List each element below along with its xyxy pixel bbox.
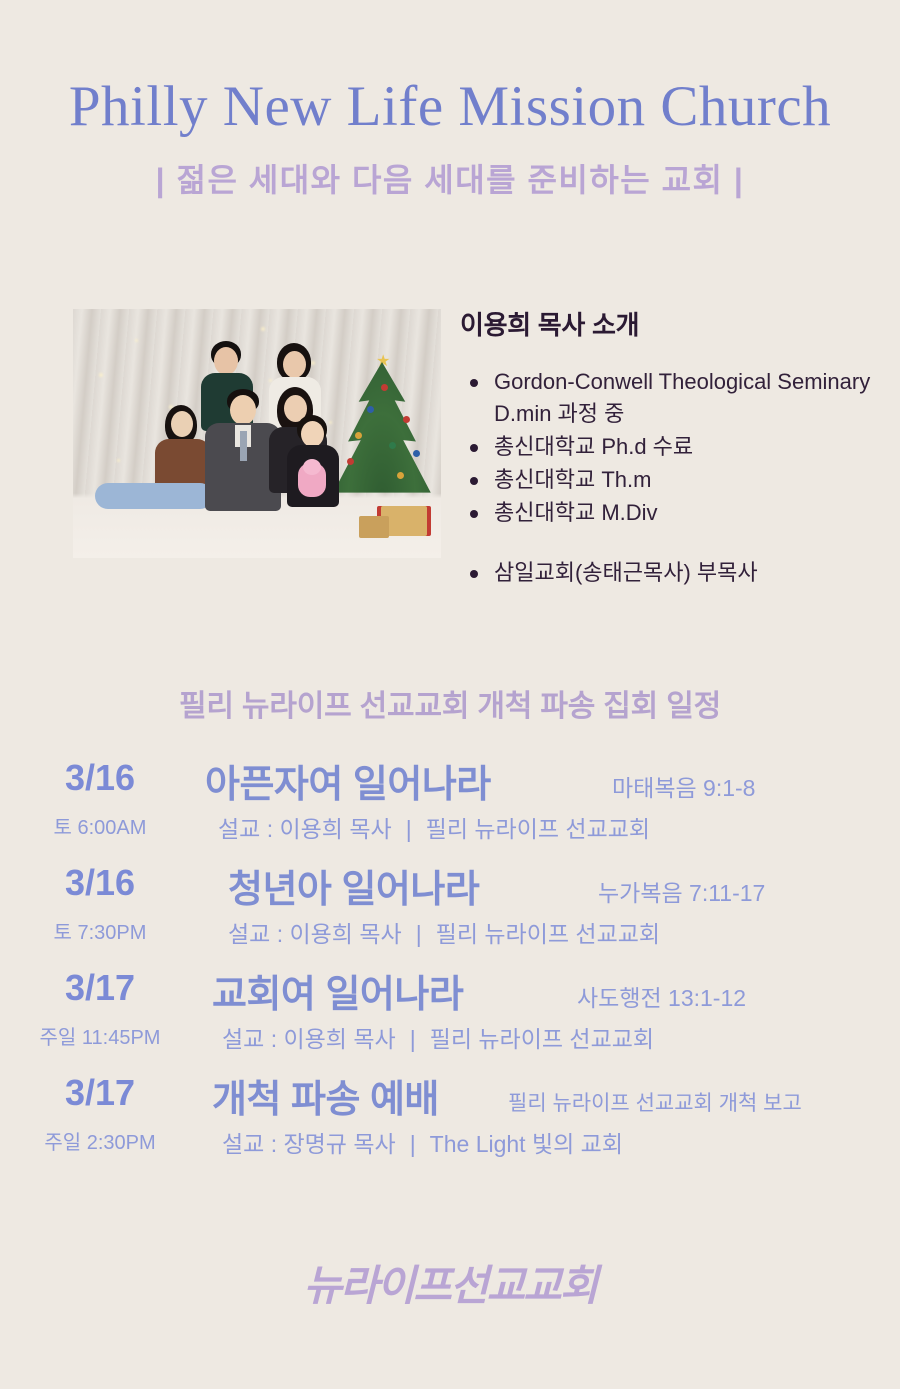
- schedule-bible-verse: 누가복음 7:11-17: [598, 874, 765, 908]
- head: [230, 395, 256, 425]
- tree-ornament: [347, 458, 354, 465]
- schedule-separator: |: [392, 816, 426, 842]
- church-title: Philly New Life Mission Church: [0, 78, 900, 135]
- schedule-date: 3/17: [0, 967, 200, 1009]
- tree-ornament: [389, 442, 396, 449]
- schedule-daytime: 토 7:30PM: [0, 916, 200, 945]
- family-photo: ★: [73, 309, 441, 558]
- person-youngest-child: [285, 415, 341, 523]
- schedule-separator: |: [396, 1131, 430, 1157]
- tree-ornament: [367, 406, 374, 413]
- schedule-list: 3/16 토 6:00AM 아픈자여 일어나라 마태복음 9:1-8 설교 : …: [0, 753, 900, 1173]
- bokeh-light: [99, 373, 103, 377]
- schedule-row: 3/17 주일 2:30PM 개척 파송 예배 필리 뉴라이프 선교교회 개척 …: [0, 1068, 900, 1173]
- bio-item: Gordon-Conwell Theological Seminary D.mi…: [460, 366, 880, 430]
- schedule-bible-verse: 마태복음 9:1-8: [612, 769, 755, 803]
- schedule-bible-verse: 필리 뉴라이프 선교교회 개척 보고: [508, 1087, 802, 1117]
- poster-root: Philly New Life Mission Church | 젊은 세대와 …: [0, 0, 900, 1389]
- schedule-row: 3/16 토 7:30PM 청년아 일어나라 누가복음 7:11-17 설교 :…: [0, 858, 900, 963]
- schedule-date: 3/17: [0, 1072, 200, 1114]
- christmas-tree-icon: ★: [329, 354, 435, 512]
- schedule-separator: |: [402, 921, 436, 947]
- schedule-sermon-title: 개척 파송 예배: [212, 1068, 439, 1123]
- tree-foliage: [329, 362, 435, 504]
- tree-ornament: [355, 432, 362, 439]
- schedule-detail: 설교 : 이용희 목사|필리 뉴라이프 선교교회: [228, 915, 660, 949]
- schedule-sermon-title: 교회여 일어나라: [212, 963, 463, 1018]
- schedule-detail: 설교 : 장명규 목사|The Light 빛의 교회: [222, 1125, 623, 1159]
- bio-item: 총신대학교 M.Div: [460, 497, 880, 529]
- schedule-preacher: 설교 : 장명규 목사: [222, 1131, 396, 1157]
- schedule-row: 3/16 토 6:00AM 아픈자여 일어나라 마태복음 9:1-8 설교 : …: [0, 753, 900, 858]
- schedule-heading: 필리 뉴라이프 선교교회 개척 파송 집회 일정: [0, 681, 900, 725]
- head: [214, 347, 238, 375]
- schedule-daytime: 주일 11:45PM: [0, 1021, 200, 1050]
- schedule-bible-verse: 사도행전 13:1-12: [577, 979, 746, 1013]
- schedule-sermon-title: 청년아 일어나라: [228, 858, 479, 913]
- photo-background: ★: [73, 309, 441, 558]
- pastor-bio: 이용희 목사 소개 Gordon-Conwell Theological Sem…: [460, 305, 880, 590]
- bio-item: 총신대학교 Ph.d 수료: [460, 431, 880, 463]
- bio-title: 이용희 목사 소개: [460, 305, 880, 342]
- head: [283, 351, 306, 378]
- tree-ornament: [413, 450, 420, 457]
- footer-logo: 뉴라이프선교교회: [0, 1252, 900, 1313]
- necktie: [240, 431, 247, 461]
- tree-ornament: [381, 384, 388, 391]
- head: [171, 411, 193, 437]
- schedule-place: The Light 빛의 교회: [430, 1131, 623, 1157]
- schedule-place: 필리 뉴라이프 선교교회: [426, 816, 650, 842]
- schedule-date: 3/16: [0, 862, 200, 904]
- schedule-place: 필리 뉴라이프 선교교회: [430, 1026, 654, 1052]
- bokeh-light: [117, 459, 120, 462]
- schedule-date: 3/16: [0, 757, 200, 799]
- bokeh-light: [135, 339, 138, 342]
- bio-list: Gordon-Conwell Theological Seminary D.mi…: [460, 366, 880, 589]
- torso: [155, 439, 211, 489]
- schedule-preacher: 설교 : 이용희 목사: [222, 1026, 396, 1052]
- schedule-place: 필리 뉴라이프 선교교회: [436, 921, 660, 947]
- bio-item: 총신대학교 Th.m: [460, 464, 880, 496]
- head: [301, 421, 324, 447]
- tree-ornament: [397, 472, 404, 479]
- schedule-daytime: 토 6:00AM: [0, 811, 200, 840]
- schedule-separator: |: [396, 1026, 430, 1052]
- teddy-head: [303, 459, 321, 475]
- tree-ornament: [403, 416, 410, 423]
- bokeh-light: [261, 327, 265, 331]
- schedule-detail: 설교 : 이용희 목사|필리 뉴라이프 선교교회: [222, 1020, 654, 1054]
- schedule-preacher: 설교 : 이용희 목사: [228, 921, 402, 947]
- schedule-daytime: 주일 2:30PM: [0, 1126, 200, 1155]
- profile-section: ★: [0, 305, 900, 595]
- bio-item: 삼일교회(송태근목사) 부목사: [460, 557, 880, 589]
- poster-header: Philly New Life Mission Church | 젊은 세대와 …: [0, 0, 900, 201]
- schedule-detail: 설교 : 이용희 목사|필리 뉴라이프 선교교회: [218, 810, 650, 844]
- schedule-row: 3/17 주일 11:45PM 교회여 일어나라 사도행전 13:1-12 설교…: [0, 963, 900, 1068]
- schedule-preacher: 설교 : 이용희 목사: [218, 816, 392, 842]
- legs-jeans: [95, 483, 213, 509]
- gift-box: [359, 516, 389, 538]
- church-tagline: | 젊은 세대와 다음 세대를 준비하는 교회 |: [0, 155, 900, 201]
- schedule-sermon-title: 아픈자여 일어나라: [205, 753, 491, 808]
